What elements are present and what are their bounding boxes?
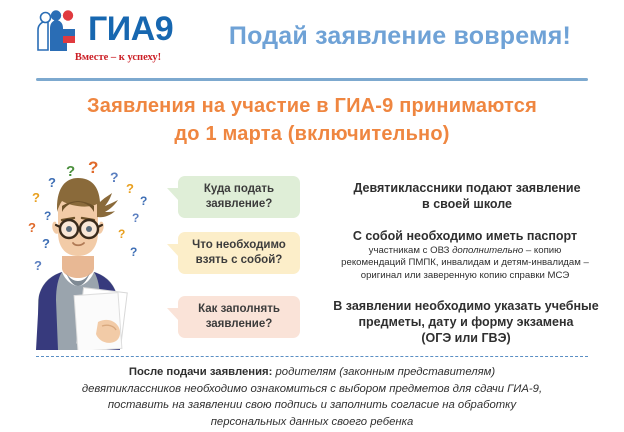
answer-3-line2: предметы, дату и форму экзамена bbox=[312, 314, 620, 330]
deadline-subtitle-line1: Заявления на участие в ГИА-9 принимаются bbox=[32, 92, 592, 120]
answer-2-sub-line1: участникам с ОВЗ дополнительно – копию bbox=[310, 245, 620, 257]
three-people-flag-icon bbox=[34, 10, 90, 52]
answer-2-sub: участникам с ОВЗ дополнительно – копию р… bbox=[310, 245, 620, 282]
answer-1-line2: в своей школе bbox=[316, 196, 618, 212]
answer-block-2: С собой необходимо иметь паспорт участни… bbox=[310, 228, 620, 282]
svg-text:?: ? bbox=[132, 211, 139, 225]
gia9-logo: ГИА9 Вместе – к успеху! bbox=[34, 8, 196, 66]
svg-text:?: ? bbox=[140, 194, 147, 208]
infographic-page: ГИА9 Вместе – к успеху! Подай заявление … bbox=[0, 0, 624, 432]
footer-note: После подачи заявления: родителям (закон… bbox=[32, 364, 592, 430]
answer-2-sub-post: – копию bbox=[523, 245, 561, 256]
question-bubble-3[interactable]: Как заполнять заявление? bbox=[178, 296, 300, 338]
header-divider bbox=[36, 78, 588, 81]
bubble-tail-icon bbox=[167, 244, 179, 257]
question-bubble-3-text: Как заполнять заявление? bbox=[198, 302, 280, 332]
question-bubble-2[interactable]: Что необходимо взять с собой? bbox=[178, 232, 300, 274]
question-bubble-1-line2: заявление? bbox=[206, 198, 273, 210]
question-bubble-2-text: Что необходимо взять с собой? bbox=[192, 238, 286, 268]
footer-line2: девятиклассников необходимо ознакомиться… bbox=[32, 381, 592, 398]
svg-text:?: ? bbox=[48, 175, 56, 190]
schoolboy-illustration: ? ? ? ? ? ? ? ? ? ? ? ? ? ? bbox=[18, 160, 170, 350]
footer-divider bbox=[36, 356, 588, 357]
question-bubble-3-line1: Как заполнять bbox=[198, 303, 280, 315]
footer-line3: поставить на заявлении свою подпись и за… bbox=[32, 397, 592, 414]
answer-2-sub-emphasis: дополнительно bbox=[452, 245, 523, 256]
logo-tagline: Вместе – к успеху! bbox=[40, 52, 196, 63]
question-bubble-1[interactable]: Куда подать заявление? bbox=[178, 176, 300, 218]
logo-wordmark: ГИА9 bbox=[88, 8, 173, 50]
svg-text:?: ? bbox=[118, 227, 125, 241]
deadline-subtitle-line2: до 1 марта (включительно) bbox=[32, 120, 592, 148]
svg-text:?: ? bbox=[88, 160, 98, 177]
footer-bold-prefix: После подачи заявления: bbox=[129, 366, 273, 378]
answer-1-line1: Девятиклассники подают заявление bbox=[316, 180, 618, 196]
svg-text:?: ? bbox=[66, 163, 75, 180]
svg-text:?: ? bbox=[126, 181, 134, 196]
answer-1-main: Девятиклассники подают заявление в своей… bbox=[316, 180, 618, 212]
svg-text:?: ? bbox=[42, 236, 50, 251]
deadline-subtitle: Заявления на участие в ГИА-9 принимаются… bbox=[32, 92, 592, 148]
answer-block-3: В заявлении необходимо указать учебные п… bbox=[312, 298, 620, 346]
footer-line1: После подачи заявления: родителям (закон… bbox=[32, 364, 592, 381]
page-title: Подай заявление вовремя! bbox=[200, 22, 600, 51]
svg-text:?: ? bbox=[110, 169, 119, 185]
answer-block-1: Девятиклассники подают заявление в своей… bbox=[316, 180, 618, 212]
answer-2-sub-pre: участникам с ОВЗ bbox=[369, 245, 452, 256]
answer-2-sub-line2: рекомендаций ПМПК, инвалидам и детям-инв… bbox=[310, 257, 620, 269]
svg-text:?: ? bbox=[34, 258, 42, 273]
svg-text:?: ? bbox=[32, 190, 40, 205]
bubble-tail-icon bbox=[167, 308, 179, 321]
svg-text:?: ? bbox=[130, 245, 137, 259]
footer-line1-rest: родителям (законным представителям) bbox=[272, 366, 495, 378]
question-bubble-2-line2: взять с собой? bbox=[196, 254, 283, 266]
question-bubble-1-text: Куда подать заявление? bbox=[204, 182, 274, 212]
answer-3-line1: В заявлении необходимо указать учебные bbox=[312, 298, 620, 314]
question-bubble-2-line1: Что необходимо bbox=[192, 239, 286, 251]
question-bubble-3-line2: заявление? bbox=[206, 318, 273, 330]
answer-2-main: С собой необходимо иметь паспорт bbox=[310, 228, 620, 244]
answer-2-sub-line3: оригинал или заверенную копию справки МС… bbox=[310, 270, 620, 282]
header: ГИА9 Вместе – к успеху! Подай заявление … bbox=[0, 0, 624, 72]
bubble-tail-icon bbox=[167, 188, 179, 201]
answer-3-line3: (ОГЭ или ГВЭ) bbox=[312, 330, 620, 346]
question-bubble-1-line1: Куда подать bbox=[204, 183, 274, 195]
svg-text:?: ? bbox=[28, 220, 36, 235]
svg-text:?: ? bbox=[44, 209, 51, 223]
footer-line4: персональных данных своего ребенка bbox=[32, 414, 592, 431]
answer-3-main: В заявлении необходимо указать учебные п… bbox=[312, 298, 620, 346]
boy-figure bbox=[36, 178, 127, 350]
